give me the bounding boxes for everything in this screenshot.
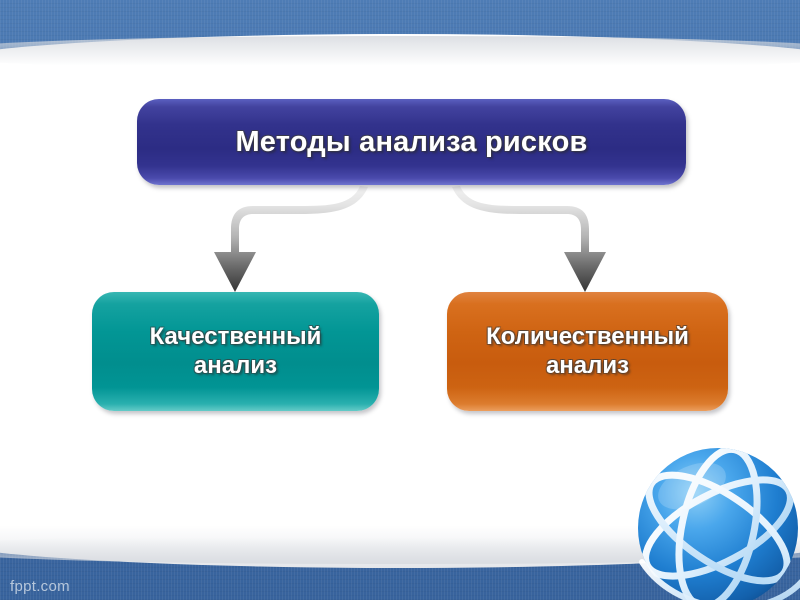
node-quantitative-label-line2: анализ <box>486 352 689 380</box>
node-qualitative-label: Качественный анализ <box>150 323 322 380</box>
node-qualitative-label-line1: Качественный <box>150 323 322 351</box>
node-quantitative-label: Количественный анализ <box>486 323 689 380</box>
globe-icon <box>630 442 800 600</box>
node-quantitative-analysis[interactable]: Количественный анализ <box>447 292 728 411</box>
node-title-label: Методы анализа рисков <box>235 125 587 159</box>
node-qualitative-label-line2: анализ <box>150 352 322 380</box>
plate-top-shading <box>0 36 800 70</box>
fppt-watermark: fppt.com <box>10 578 70 595</box>
slide-canvas: Методы анализа рисков Качественный анали… <box>0 0 800 600</box>
node-quantitative-label-line1: Количественный <box>486 323 689 351</box>
node-qualitative-analysis[interactable]: Качественный анализ <box>92 292 379 411</box>
node-methods-of-risk-analysis[interactable]: Методы анализа рисков <box>137 99 686 185</box>
